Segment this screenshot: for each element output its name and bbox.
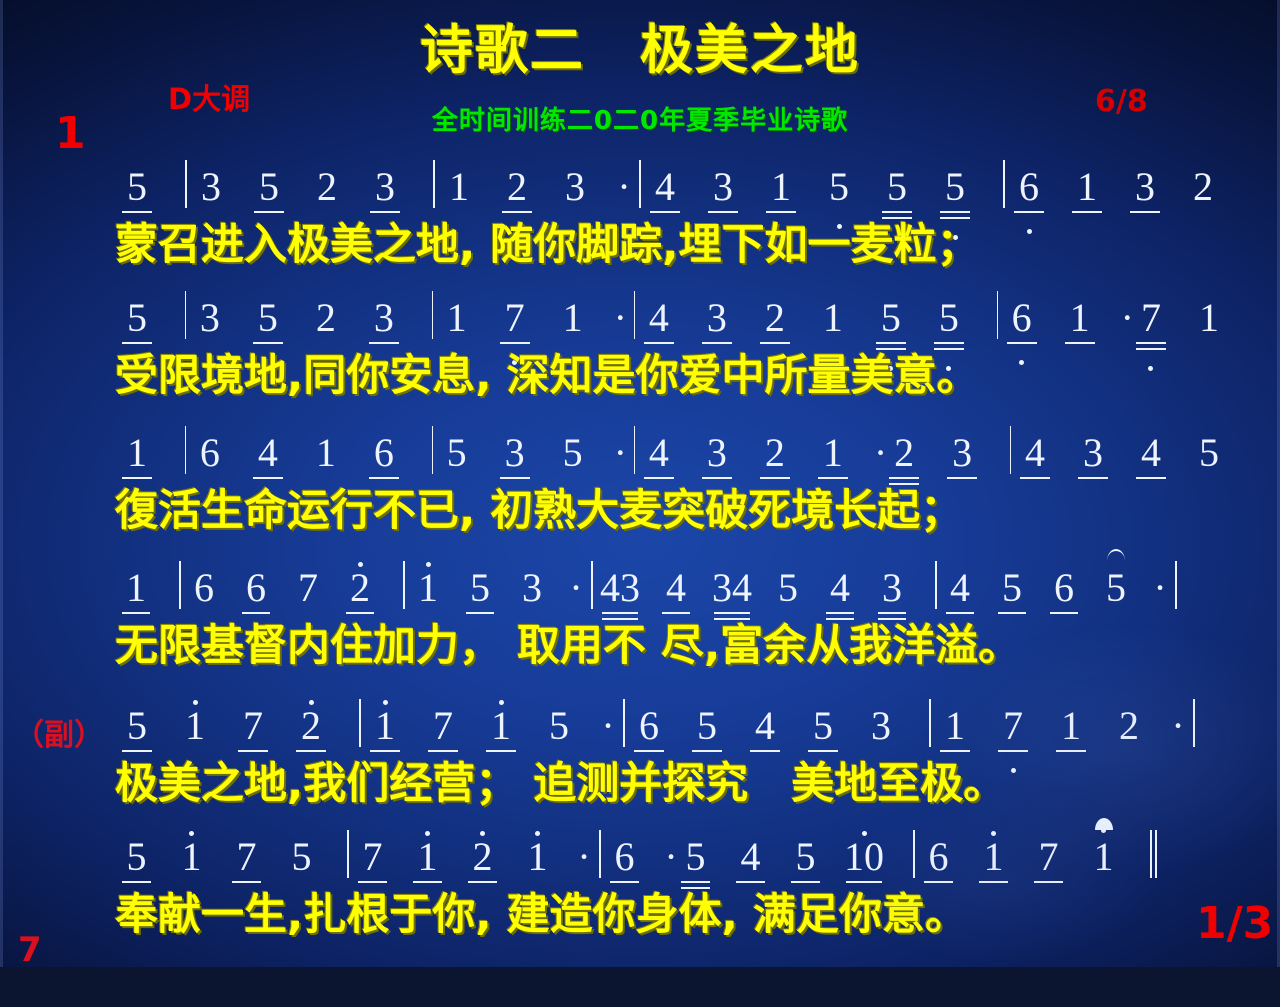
note: 1 (484, 703, 518, 749)
augmentation-dot: · (1170, 703, 1186, 749)
note-glyph: 3 (707, 295, 727, 341)
note-glyph: 7 (1039, 834, 1059, 880)
note-glyph: 4 (741, 834, 761, 880)
note: 7 (230, 834, 263, 880)
note: 7 (356, 834, 389, 880)
note-glyph: 7 (1141, 295, 1161, 341)
note: 6 (1005, 295, 1039, 341)
barline (1003, 160, 1005, 208)
barline (913, 830, 915, 878)
note: 6 (1012, 164, 1046, 210)
note: 5 (996, 565, 1028, 611)
barline (185, 426, 186, 474)
note: 1 (442, 164, 476, 210)
note: 2 (310, 164, 344, 210)
note: 6 (1048, 565, 1080, 611)
note: 4 (1018, 430, 1052, 476)
lyric-row-4: 无限基督内住加力， 取用不 尽,富余从我洋溢。 (0, 611, 1280, 679)
barline (599, 830, 601, 878)
notation-row-5: 51721715·654531712· (0, 691, 1280, 749)
augmentation-dot: · (614, 430, 627, 476)
note-glyph: 1 (1199, 295, 1219, 341)
note: 6 (188, 565, 220, 611)
note: 5 (252, 164, 286, 210)
note: 4 (944, 565, 976, 611)
note: 4 (642, 295, 676, 341)
note: 5 (120, 164, 154, 210)
note-glyph: 4 (1141, 430, 1161, 476)
note-glyph: 7 (298, 565, 318, 611)
barline (1010, 426, 1011, 474)
notation-row-3: 16416535·4321·234345 (0, 418, 1280, 476)
note: 5 (120, 834, 153, 880)
time-signature: 6/8 (1095, 84, 1148, 119)
music-system-2: 53523171·43215561·71 受限境地,同你安息, 深知是你爱中所量… (0, 283, 1280, 409)
note: 3 (194, 164, 228, 210)
note: 2 (887, 430, 921, 476)
note-glyph: 3 (1083, 430, 1103, 476)
note-glyph: 2 (765, 430, 785, 476)
note: 7 (426, 703, 460, 749)
note-glyph: 1 (316, 430, 336, 476)
note: 5 (440, 430, 474, 476)
note-glyph: 5 (470, 565, 490, 611)
note: 5 (120, 295, 154, 341)
note: 5 (772, 565, 804, 611)
note-glyph: 6 (639, 703, 659, 749)
note-glyph: 5 (292, 834, 312, 880)
note-glyph: 6 (1012, 295, 1032, 341)
note-glyph: 3 (374, 295, 394, 341)
note: 5 (938, 164, 972, 210)
note: 1 (764, 164, 798, 210)
note: 1 (816, 430, 850, 476)
note-glyph: 4 (950, 565, 970, 611)
note-glyph: 4 (649, 430, 669, 476)
barline (1193, 699, 1195, 747)
note-glyph: 4 (755, 703, 775, 749)
lyric-row-3: 復活生命运行不已, 初熟大麦突破死境长起； (0, 476, 1280, 544)
augmentation-dot: · (568, 565, 584, 611)
note-glyph: 1 (418, 834, 438, 880)
note-glyph: 5 (813, 703, 833, 749)
note-glyph: 1 (127, 430, 147, 476)
note: 1 (1054, 703, 1088, 749)
note: 5 (556, 430, 590, 476)
note: 3 (368, 164, 402, 210)
note: 1 (938, 703, 972, 749)
note-glyph: 3 (952, 430, 972, 476)
note-glyph: 5 (447, 430, 467, 476)
note: 6 (922, 834, 955, 880)
note-glyph: 2 (316, 295, 336, 341)
augmentation-dot: · (874, 430, 887, 476)
note-glyph: 7 (237, 834, 257, 880)
note: 1 (816, 295, 850, 341)
note-glyph: 6 (200, 430, 220, 476)
note-glyph: 2 (1119, 703, 1139, 749)
augmentation-dot: · (1152, 565, 1168, 611)
note: 1 (1192, 295, 1226, 341)
note-glyph: 6 (246, 565, 266, 611)
note: 3 (945, 430, 979, 476)
note-pair: 43 (600, 565, 640, 611)
note-glyph: 6 (1019, 164, 1039, 210)
barline (634, 291, 635, 339)
barline (433, 160, 435, 208)
barline (347, 830, 349, 878)
barline (1175, 561, 1177, 609)
note-glyph: 3 (375, 164, 395, 210)
note: 1 (120, 430, 154, 476)
barline (935, 561, 937, 609)
note-glyph: 5 (945, 164, 965, 210)
slide-canvas: 诗歌二 极美之地 全时间训练二0二0年夏季毕业诗歌 D大调 6/8 1 （副） … (0, 0, 1280, 967)
barline (623, 699, 625, 747)
note-glyph: 3 (201, 164, 221, 210)
note: 6 (367, 430, 401, 476)
note-glyph: 1 (1094, 834, 1114, 880)
note: 3 (367, 295, 401, 341)
note: 3 (516, 565, 548, 611)
note-glyph: 5 (881, 295, 901, 341)
note: 3 (1076, 430, 1110, 476)
note: 2 (344, 565, 376, 611)
note-glyph: 2 (1193, 164, 1213, 210)
music-system-6: 51757121·6·545106171 奉献一生,扎根于你, 建造你身体, 满… (0, 822, 1280, 948)
lyric-row-2: 受限境地,同你安息, 深知是你爱中所量美意。 (0, 341, 1280, 409)
note-glyph: 5 (258, 295, 278, 341)
note: 1 (521, 834, 554, 880)
note-glyph: 4 (649, 295, 669, 341)
notation-row-4: 16672153·434345434565· (0, 553, 1280, 611)
note: 2 (309, 295, 343, 341)
note-glyph: 5 (697, 703, 717, 749)
note: 5 (285, 834, 318, 880)
augmentation-dot: · (616, 164, 632, 210)
note-glyph: 2 (507, 164, 527, 210)
notation-row-1: 53523123·4315556132 (0, 152, 1280, 210)
note-glyph: 3 (882, 565, 902, 611)
note-glyph: 1 (823, 295, 843, 341)
note-glyph: 1 (375, 703, 395, 749)
note-glyph: 1 (185, 703, 205, 749)
note: 1 (178, 703, 212, 749)
note-glyph: 1 (449, 164, 469, 210)
music-system-4: 16672153·434345434565· 无限基督内住加力， 取用不 尽,富… (0, 553, 1280, 679)
note-glyph: 3 (522, 565, 542, 611)
note-glyph: 5 (127, 295, 147, 341)
note: 7 (498, 295, 532, 341)
note: 5 (874, 295, 908, 341)
note: 4 (824, 565, 856, 611)
note-glyph: 5 (796, 834, 816, 880)
note: 1 (175, 834, 208, 880)
barline (639, 160, 641, 208)
note-glyph: 2 (765, 295, 785, 341)
note-glyph: 1 (563, 295, 583, 341)
note: 6 (632, 703, 666, 749)
note-glyph: 5 (1002, 565, 1022, 611)
note-glyph: 3 (505, 430, 525, 476)
note: 1 (120, 565, 152, 611)
note: 5 (806, 703, 840, 749)
augmentation-dot: · (576, 834, 592, 880)
augmentation-dot: · (600, 703, 616, 749)
note: 2 (758, 295, 792, 341)
note-glyph: 5 (686, 834, 706, 880)
note-glyph: 5 (887, 164, 907, 210)
note-glyph: 1 (1077, 164, 1097, 210)
note-glyph: 34 (712, 565, 752, 611)
note-glyph: 4 (666, 565, 686, 611)
note: 5 (1192, 430, 1226, 476)
note: 6 (240, 565, 272, 611)
note-glyph: 1 (945, 703, 965, 749)
note: 4 (648, 164, 682, 210)
note-glyph: 6 (1054, 565, 1074, 611)
note: 5 (1100, 565, 1132, 611)
note-glyph: 7 (1003, 703, 1023, 749)
note: 6 (608, 834, 641, 880)
note: 4 (1134, 430, 1168, 476)
note-glyph: 6 (194, 565, 214, 611)
note: 5 (690, 703, 724, 749)
note-glyph: 2 (894, 430, 914, 476)
note-glyph: 43 (600, 565, 640, 611)
barline (432, 426, 433, 474)
barline (591, 561, 593, 609)
music-system-3: 16416535·4321·234345 復活生命运行不已, 初熟大麦突破死境长… (0, 418, 1280, 544)
barline (185, 291, 186, 339)
note-glyph: 5 (1199, 430, 1219, 476)
note: 1 (1070, 164, 1104, 210)
note: 1 (412, 565, 444, 611)
note: 5 (464, 565, 496, 611)
note-glyph: 1 (1061, 703, 1081, 749)
note-glyph: 4 (1025, 430, 1045, 476)
note-glyph: 1 (447, 295, 467, 341)
note: 7 (1134, 295, 1168, 341)
note: 7 (996, 703, 1030, 749)
note-glyph: 5 (127, 834, 147, 880)
note: 5 (932, 295, 966, 341)
note-glyph: 3 (200, 295, 220, 341)
note-glyph: 1 (823, 430, 843, 476)
augmentation-dot: · (663, 834, 679, 880)
note-glyph: 7 (433, 703, 453, 749)
note: 1 (309, 430, 343, 476)
note: 4 (660, 565, 692, 611)
note: 3 (876, 565, 908, 611)
note: 3 (700, 295, 734, 341)
barline (403, 561, 405, 609)
octave-dot-icon (1101, 828, 1106, 833)
note: 2 (466, 834, 499, 880)
note: 5 (880, 164, 914, 210)
notation-row-6: 51757121·6·545106171 (0, 822, 1280, 880)
note: 2 (294, 703, 328, 749)
note-glyph: 1 (771, 164, 791, 210)
note: 2 (1186, 164, 1220, 210)
note-glyph: 1 (528, 834, 548, 880)
music-system-5: 51721715·654531712· 极美之地,我们经营； 追测并探究 美地至… (0, 691, 1280, 817)
note-glyph: 4 (655, 164, 675, 210)
note-glyph: 3 (871, 703, 891, 749)
note-glyph: 7 (243, 703, 263, 749)
note: 3 (700, 430, 734, 476)
note-glyph: 5 (259, 164, 279, 210)
note-glyph: 1 (1070, 295, 1090, 341)
lyric-row-1: 蒙召进入极美之地, 随你脚踪,埋下如一麦粒； (0, 210, 1280, 278)
note-glyph: 10 (844, 834, 884, 880)
note-glyph: 5 (127, 164, 147, 210)
barline (997, 291, 998, 339)
note-glyph: 1 (126, 565, 146, 611)
barline (432, 291, 433, 339)
note-pair: 34 (712, 565, 752, 611)
note: 1 (440, 295, 474, 341)
note: 4 (734, 834, 767, 880)
note-glyph: 6 (374, 430, 394, 476)
barline (179, 561, 181, 609)
note: 4 (642, 430, 676, 476)
note-glyph: 5 (829, 164, 849, 210)
note-glyph: 2 (317, 164, 337, 210)
note-glyph: 5 (1106, 565, 1126, 611)
note: 5 (679, 834, 712, 880)
note-glyph: 1 (418, 565, 438, 611)
page-title: 诗歌二 极美之地 (0, 8, 1280, 84)
note: 1 (1063, 295, 1097, 341)
note: 1 (368, 703, 402, 749)
note: 1 (556, 295, 590, 341)
note-glyph: 2 (473, 834, 493, 880)
note: 5 (789, 834, 822, 880)
note-glyph: 2 (301, 703, 321, 749)
note: 6 (193, 430, 227, 476)
augmentation-dot: · (614, 295, 627, 341)
note-glyph: 4 (258, 430, 278, 476)
note-glyph: 6 (615, 834, 635, 880)
final-barline (1150, 830, 1158, 878)
note-glyph: 5 (549, 703, 569, 749)
note-glyph: 3 (1135, 164, 1155, 210)
note-glyph: 5 (127, 703, 147, 749)
note: 3 (558, 164, 592, 210)
lyric-row-6: 奉献一生,扎根于你, 建造你身体, 满足你意。 (0, 880, 1280, 948)
note: 3 (193, 295, 227, 341)
note-glyph: 5 (778, 565, 798, 611)
note-glyph: 4 (830, 565, 850, 611)
note: 10 (844, 834, 884, 880)
note: 2 (500, 164, 534, 210)
note: 3 (706, 164, 740, 210)
note: 7 (1032, 834, 1065, 880)
note: 7 (236, 703, 270, 749)
note: 3 (864, 703, 898, 749)
note-glyph: 6 (929, 834, 949, 880)
note-glyph: 1 (491, 703, 511, 749)
note: 7 (292, 565, 324, 611)
note: 3 (498, 430, 532, 476)
barline (634, 426, 635, 474)
notation-row-2: 53523171·43215561·71 (0, 283, 1280, 341)
note-glyph: 3 (713, 164, 733, 210)
note-glyph: 1 (984, 834, 1004, 880)
note: 5 (822, 164, 856, 210)
note: 3 (1128, 164, 1162, 210)
note: 1 (977, 834, 1010, 880)
note: 5 (120, 703, 154, 749)
lyric-row-5: 极美之地,我们经营； 追测并探究 美地至极。 (0, 749, 1280, 817)
note-glyph: 2 (350, 565, 370, 611)
note: 2 (758, 430, 792, 476)
note-glyph: 5 (563, 430, 583, 476)
barline (359, 699, 361, 747)
note-glyph: 3 (565, 164, 585, 210)
barline (929, 699, 931, 747)
key-signature: D大调 (168, 76, 250, 118)
note-glyph: 1 (182, 834, 202, 880)
note-glyph: 7 (505, 295, 525, 341)
note: 1 (411, 834, 444, 880)
augmentation-dot: · (1121, 295, 1134, 341)
note-glyph: 7 (363, 834, 383, 880)
note-glyph: 3 (707, 430, 727, 476)
note: 5 (251, 295, 285, 341)
note: 1 (1087, 834, 1120, 880)
note: 4 (251, 430, 285, 476)
music-system-1: 53523123·4315556132 蒙召进入极美之地, 随你脚踪,埋下如一麦… (0, 152, 1280, 278)
note: 4 (748, 703, 782, 749)
note: 5 (542, 703, 576, 749)
barline (185, 160, 187, 208)
note-glyph: 5 (939, 295, 959, 341)
note: 2 (1112, 703, 1146, 749)
